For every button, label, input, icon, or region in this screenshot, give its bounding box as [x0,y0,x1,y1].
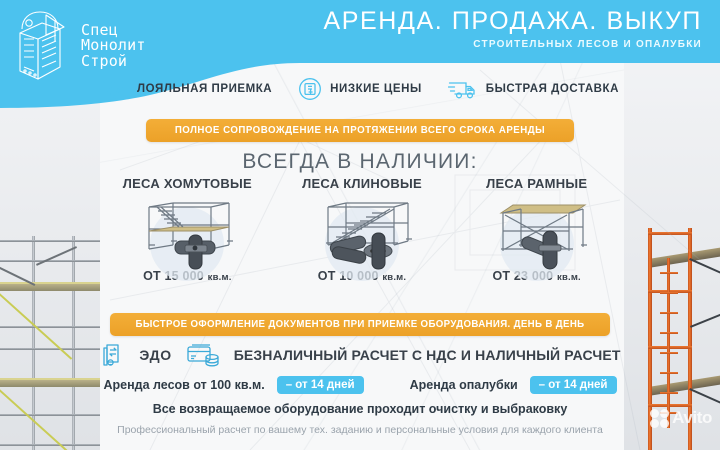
rental-terms-row: Аренда лесов от 100 кв.м. – от 14 дней А… [0,374,720,396]
benefit-label: БЫСТРАЯ ДОСТАВКА [486,83,619,95]
benefit-item-low-prices: НИЗКИЕ ЦЕНЫ [298,77,422,101]
building-crane-logo-icon [16,9,74,83]
benefit-item-fast-delivery: БЫСТРАЯ ДОСТАВКА [448,78,619,100]
product-price-unit: кв.м. [382,272,406,283]
term-label-scaffolding: Аренда лесов от 100 кв.м. [104,378,265,392]
benefit-label: НИЗКИЕ ЦЕНЫ [330,83,422,95]
avito-dots-icon [650,409,669,428]
brand-name: Спец Монолит Строй [81,23,146,69]
payment-label: БЕЗНАЛИЧНЫЙ РАСЧЕТ С НДС И НАЛИЧНЫЙ РАСЧ… [234,347,621,363]
product-title: ЛЕСА РАМНЫЕ [449,176,624,191]
professional-calculation-note: Профессиональный расчет по вашему тех. з… [0,424,720,436]
advertising-banner: Avito [0,0,720,450]
payment-methods-row: ЭДО БЕЗНАЛИЧНЫЙ РАСЧЕТ С НДС И НАЛИЧНЫЙ … [0,341,720,369]
term-badge-scaffolding: – от 14 дней [277,376,364,394]
delivery-truck-icon [448,78,478,100]
header-subtitle: СТРОИТЕЛЬНЫХ ЛЕСОВ И ОПАЛУБКИ [323,39,702,50]
product-card-clamp-scaffolding[interactable]: ЛЕСА ХОМУТОВЫЕ [100,176,275,302]
product-image [100,193,275,273]
card-and-coins-icon [186,342,220,368]
document-exchange-icon [99,342,125,368]
price-tag-icon [298,77,322,101]
edo-label: ЭДО [139,347,171,363]
brand-logo[interactable]: Спец Монолит Строй [16,6,161,86]
term-badge-formwork: – от 14 дней [530,376,617,394]
fast-documents-banner: БЫСТРОЕ ОФОРМЛЕНИЕ ДОКУМЕНТОВ ПРИ ПРИЕМК… [110,313,610,336]
brand-name-line3: Строй [81,54,146,69]
product-price-unit: кв.м. [208,272,232,283]
product-card-wedge-scaffolding[interactable]: ЛЕСА КЛИНОВЫЕ [275,176,450,302]
product-price-unit: кв.м. [557,272,581,283]
product-card-frame-scaffolding[interactable]: ЛЕСА РАМНЫЕ [449,176,624,302]
full-support-banner: ПОЛНОЕ СОПРОВОЖДЕНИЕ НА ПРОТЯЖЕНИИ ВСЕГО… [146,119,574,142]
frame-scaffolding-icon [477,193,597,273]
product-title: ЛЕСА ХОМУТОВЫЕ [100,176,275,191]
cleaning-note: Все возвращаемое оборудование проходит о… [0,402,720,416]
product-title: ЛЕСА КЛИНОВЫЕ [275,176,450,191]
avito-watermark: Avito [650,408,712,428]
term-label-formwork: Аренда опалубки [410,378,518,392]
clamp-scaffolding-icon [127,193,247,273]
product-image [275,193,450,273]
products-row: ЛЕСА ХОМУТОВЫЕ [100,176,624,302]
header-title: АРЕНДА. ПРОДАЖА. ВЫКУП [323,8,702,36]
header-titles: АРЕНДА. ПРОДАЖА. ВЫКУП СТРОИТЕЛЬНЫХ ЛЕСО… [323,8,702,50]
product-image [449,193,624,273]
avito-watermark-text: Avito [672,408,712,428]
wedge-scaffolding-icon [302,193,422,273]
section-title-always-in-stock: ВСЕГДА В НАЛИЧИИ: [0,150,720,174]
